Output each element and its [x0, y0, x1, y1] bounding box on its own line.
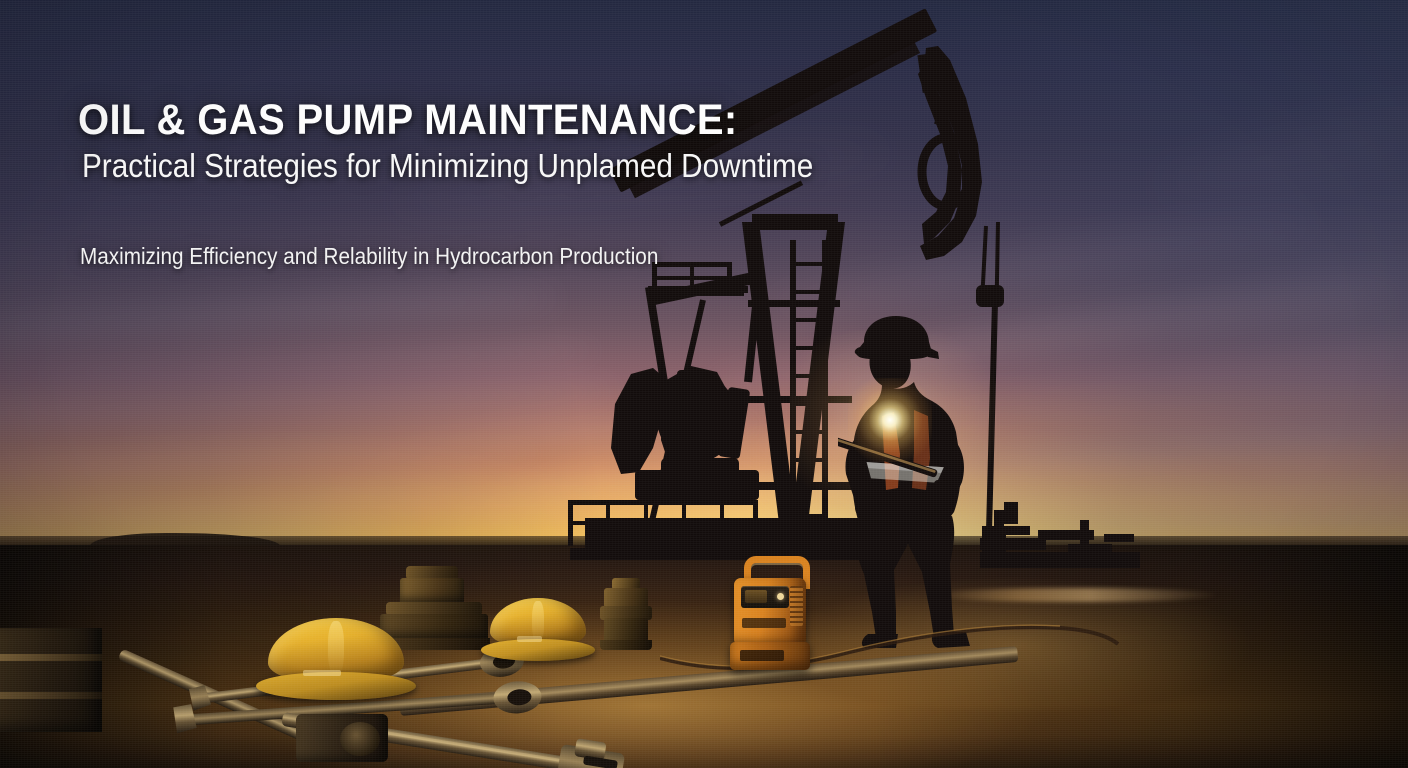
worker-hardhat [855, 316, 934, 359]
equipment-crate-band-2 [0, 692, 102, 699]
ladder-rail-left [790, 240, 796, 545]
samson-post-right [787, 222, 845, 552]
beam-walkway-rail [648, 286, 748, 293]
generator-indicator-light [777, 593, 784, 600]
headline-block: OIL & GAS PUMP MAINTENANCE: Practical St… [78, 98, 838, 271]
ladder-rail-right [822, 240, 828, 545]
equipment-crate [0, 628, 102, 732]
hard-hat-right-slot [517, 636, 542, 641]
hard-hat-right [490, 598, 586, 662]
worker-glove-left [855, 497, 881, 519]
page-title: OIL & GAS PUMP MAINTENANCE: [78, 98, 785, 142]
portable-generator [730, 556, 810, 672]
counterweight-assembly [605, 362, 785, 522]
equipment-crate-band-1 [0, 654, 102, 661]
generator-base-slot [740, 650, 784, 661]
worker-head [869, 355, 910, 389]
wrench-set [160, 640, 680, 768]
hard-hat-left-ridge [328, 621, 344, 675]
hero-banner: OIL & GAS PUMP MAINTENANCE: Practical St… [0, 0, 1408, 768]
worker-glove-right [909, 497, 935, 519]
page-subtitle: Practical Strategies for Minimizing Unpl… [82, 148, 762, 185]
worker-belt-tool [934, 480, 948, 510]
generator-gauge [745, 590, 767, 603]
page-tagline: Maximizing Efficiency and Relability in … [80, 243, 762, 271]
pipe-fitting-small-bore [340, 722, 380, 756]
generator-vents [790, 586, 803, 626]
hard-hat-right-brim [481, 639, 594, 661]
hard-hat-left-brim [256, 672, 416, 701]
counterweight-shape [605, 362, 785, 522]
hard-hat-left-slot [303, 670, 341, 676]
generator-label [742, 618, 786, 628]
horsehead [880, 46, 998, 266]
polished-rod-clamp [976, 285, 1004, 307]
hard-hat-left [268, 618, 404, 702]
hard-hat-right-ridge [532, 601, 544, 642]
horsehead-shape [880, 46, 998, 266]
